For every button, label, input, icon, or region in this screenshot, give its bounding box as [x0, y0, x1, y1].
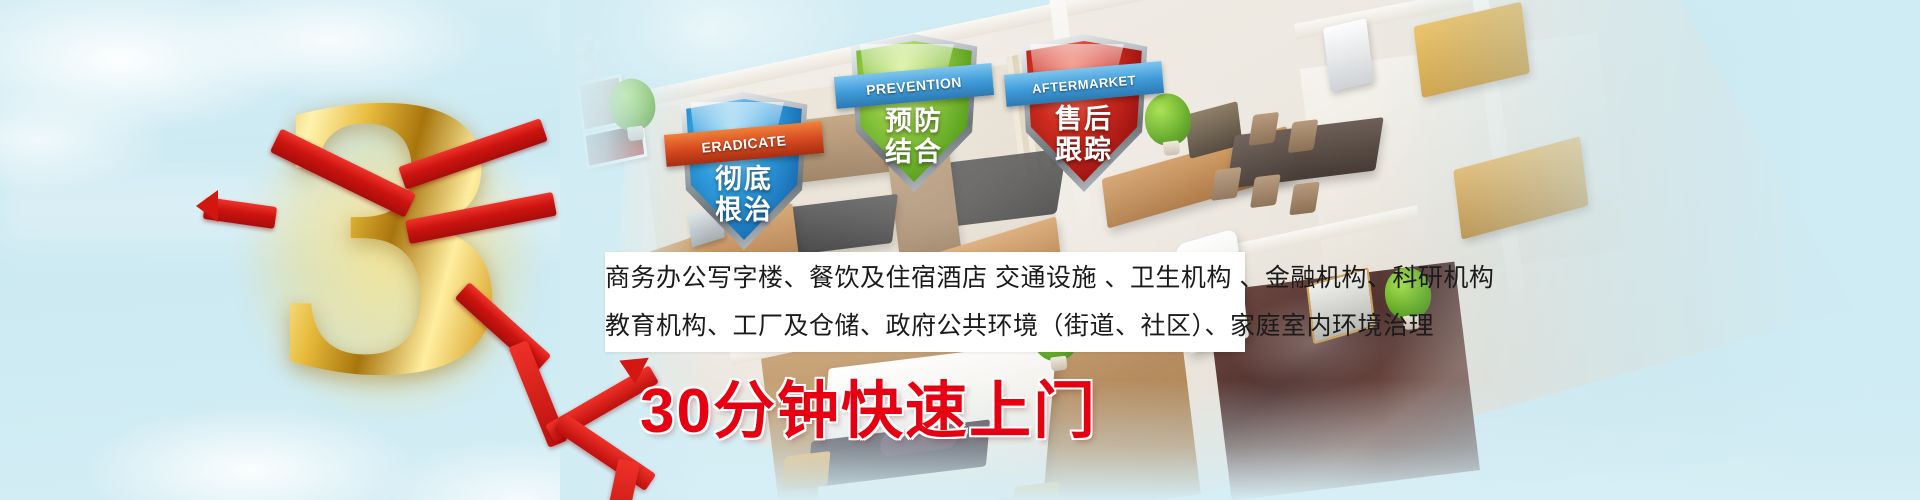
headline-text: 30分钟快速上门 — [640, 360, 1097, 450]
badge-chinese-line2: 结合 — [848, 137, 980, 168]
table-lamp — [573, 57, 598, 82]
table-lamp — [570, 35, 595, 60]
nightstand — [782, 451, 831, 491]
hero-number-glyph: 3 — [210, 44, 570, 444]
badge-chinese-text: 售后 跟踪 — [1018, 104, 1150, 166]
service-scope-line-1: 商务办公写字楼、餐饮及住宿酒店 交通设施 、卫生机构 、金融机构、科研机构 — [605, 252, 1245, 302]
badge-chinese-text: 预防 结合 — [848, 106, 980, 168]
badge-chinese-text: 彻底 根治 — [678, 164, 810, 226]
hero-number-3: 3 — [210, 78, 570, 438]
badge-chinese-line1: 售后 — [1018, 104, 1150, 135]
badge-chinese-line2: 跟踪 — [1018, 135, 1150, 166]
badge-chinese-line2: 根治 — [678, 195, 810, 226]
service-scope-panel: 商务办公写字楼、餐饮及住宿酒店 交通设施 、卫生机构 、金融机构、科研机构 教育… — [605, 252, 1245, 352]
service-scope-line-2: 教育机构、工厂及仓储、政府公共环境（街道、社区）、家庭室内环境治理 — [605, 302, 1245, 350]
potted-plant — [605, 68, 659, 143]
ribbon-arrow-icon — [196, 190, 218, 222]
badge-prevention[interactable]: 预防 结合 PREVENTION — [848, 34, 980, 192]
promo-banner: 3 彻底 根治 ERADICATE 预防 结合 PREVENTION — [0, 0, 1920, 500]
badge-chinese-line1: 彻底 — [678, 164, 810, 195]
range-hood — [1323, 18, 1374, 91]
badge-aftermarket[interactable]: 售后 跟踪 AFTERMARKET — [1018, 34, 1150, 192]
badge-eradicate[interactable]: 彻底 根治 ERADICATE — [678, 92, 810, 250]
badge-chinese-line1: 预防 — [848, 106, 980, 137]
